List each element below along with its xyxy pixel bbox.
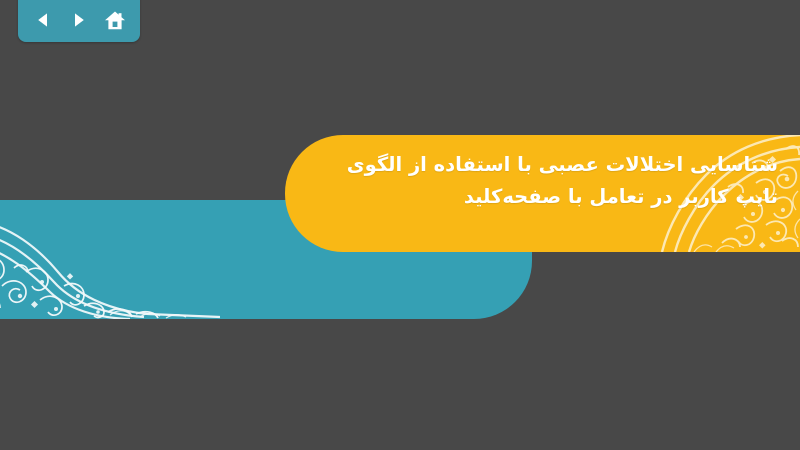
presentation-slide: شناسایی اختلالات عصبی با استفاده از الگو… [0,0,800,450]
slide-title: شناسایی اختلالات عصبی با استفاده از الگو… [308,149,778,212]
home-button[interactable] [100,6,130,34]
forward-icon [70,11,88,29]
yellow-title-panel: شناسایی اختلالات عصبی با استفاده از الگو… [285,135,800,252]
back-button[interactable] [28,6,58,34]
forward-button[interactable] [64,6,94,34]
navigation-toolbar [18,0,140,42]
title-line-1: شناسایی اختلالات عصبی با استفاده از الگو… [308,149,778,181]
back-icon [34,11,52,29]
home-icon [104,10,126,31]
teal-arabesque-ornament [0,214,220,319]
title-line-2: تایپ کاربر در تعامل با صفحه‌کلید [308,181,778,213]
